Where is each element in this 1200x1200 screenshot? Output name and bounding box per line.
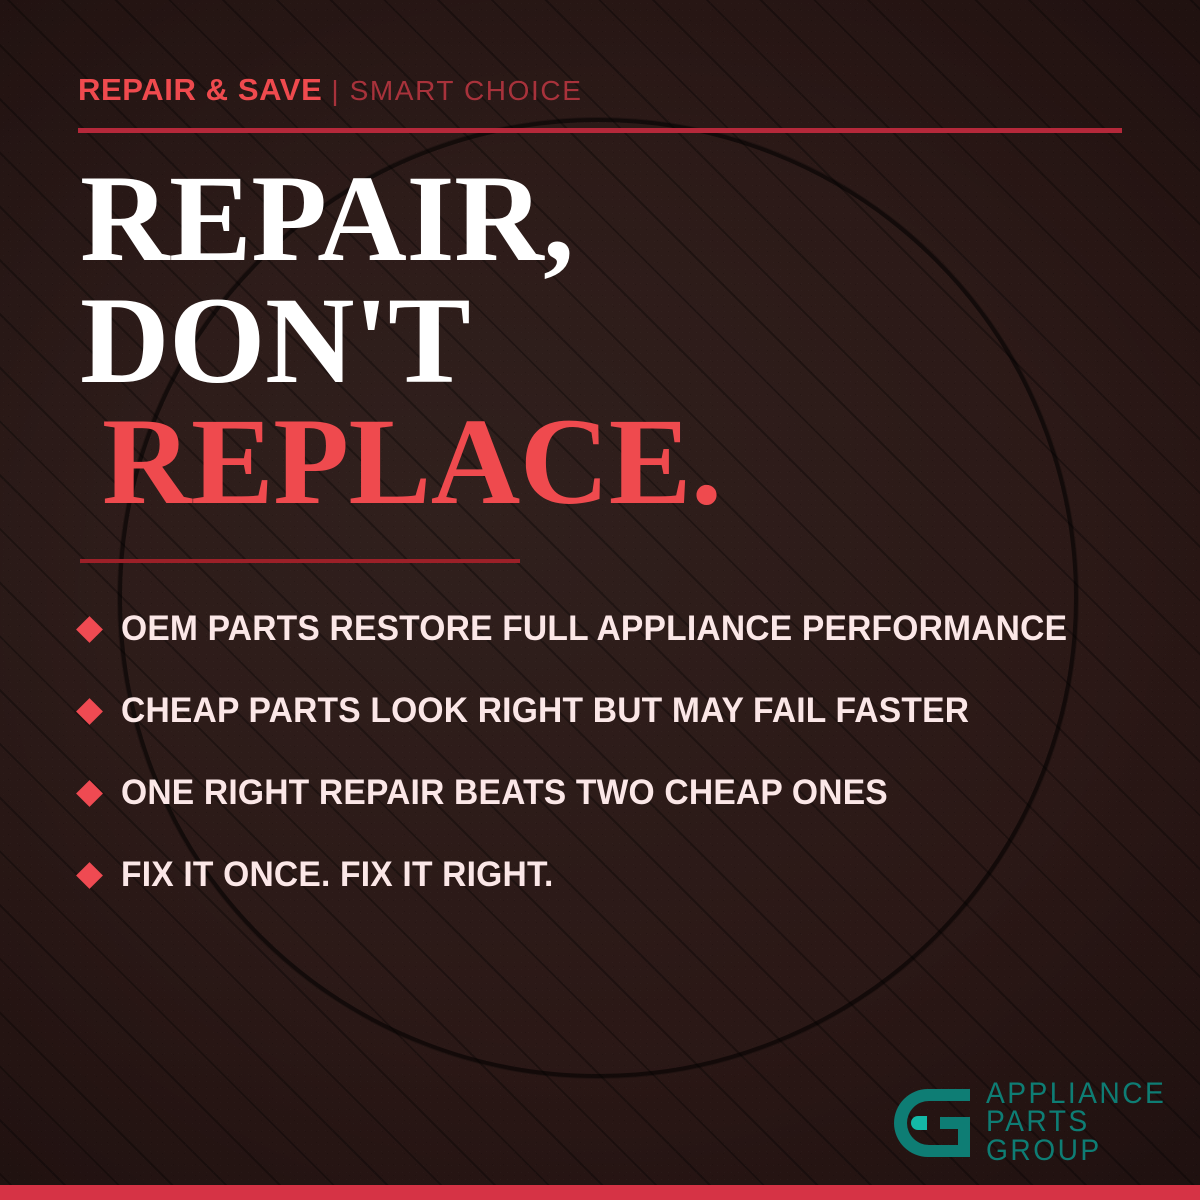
list-item: OEM PARTS RESTORE FULL APPLIANCE PERFORM… — [80, 588, 1150, 670]
brand-logo-line-2: PARTS — [986, 1108, 1166, 1137]
benefit-list: OEM PARTS RESTORE FULL APPLIANCE PERFORM… — [80, 588, 1150, 916]
diamond-bullet-icon — [76, 616, 103, 643]
headline-line-2: DON'T — [80, 280, 722, 402]
header-divider-rule — [78, 128, 1122, 133]
brand-logo-line-1: APPLIANCE — [986, 1080, 1166, 1109]
kicker-light-label: | SMART CHOICE — [331, 75, 582, 106]
poster-content: REPAIR & SAVE| SMART CHOICE REPAIR, DON'… — [0, 0, 1200, 1200]
appliance-parts-group-g-icon — [888, 1083, 974, 1163]
diamond-bullet-icon — [76, 862, 103, 889]
brand-logo: APPLIANCE PARTS GROUP — [888, 1080, 1178, 1166]
list-item-label: OEM PARTS RESTORE FULL APPLIANCE PERFORM… — [121, 609, 1067, 649]
page-title: REPAIR, DON'T REPLACE. — [80, 158, 722, 523]
brand-logo-line-3: GROUP — [986, 1137, 1166, 1166]
list-item-label: CHEAP PARTS LOOK RIGHT BUT MAY FAIL FAST… — [121, 691, 969, 731]
list-item-label: FIX IT ONCE. FIX IT RIGHT. — [121, 855, 553, 895]
list-item: FIX IT ONCE. FIX IT RIGHT. — [80, 834, 1150, 916]
headline-line-3: REPLACE. — [80, 401, 722, 523]
brand-logo-wordmark: APPLIANCE PARTS GROUP — [986, 1080, 1178, 1166]
diamond-bullet-icon — [76, 780, 103, 807]
list-item: CHEAP PARTS LOOK RIGHT BUT MAY FAIL FAST… — [80, 670, 1150, 752]
headline-divider-rule — [80, 559, 520, 563]
diamond-bullet-icon — [76, 698, 103, 725]
bottom-accent-bar — [0, 1185, 1200, 1200]
list-item: ONE RIGHT REPAIR BEATS TWO CHEAP ONES — [80, 752, 1150, 834]
list-item-label: ONE RIGHT REPAIR BEATS TWO CHEAP ONES — [121, 773, 888, 813]
promo-poster: REPAIR & SAVE| SMART CHOICE REPAIR, DON'… — [0, 0, 1200, 1200]
kicker: REPAIR & SAVE| SMART CHOICE — [78, 74, 582, 105]
headline-line-1: REPAIR, — [80, 158, 722, 280]
kicker-strong-label: REPAIR & SAVE — [78, 72, 322, 107]
